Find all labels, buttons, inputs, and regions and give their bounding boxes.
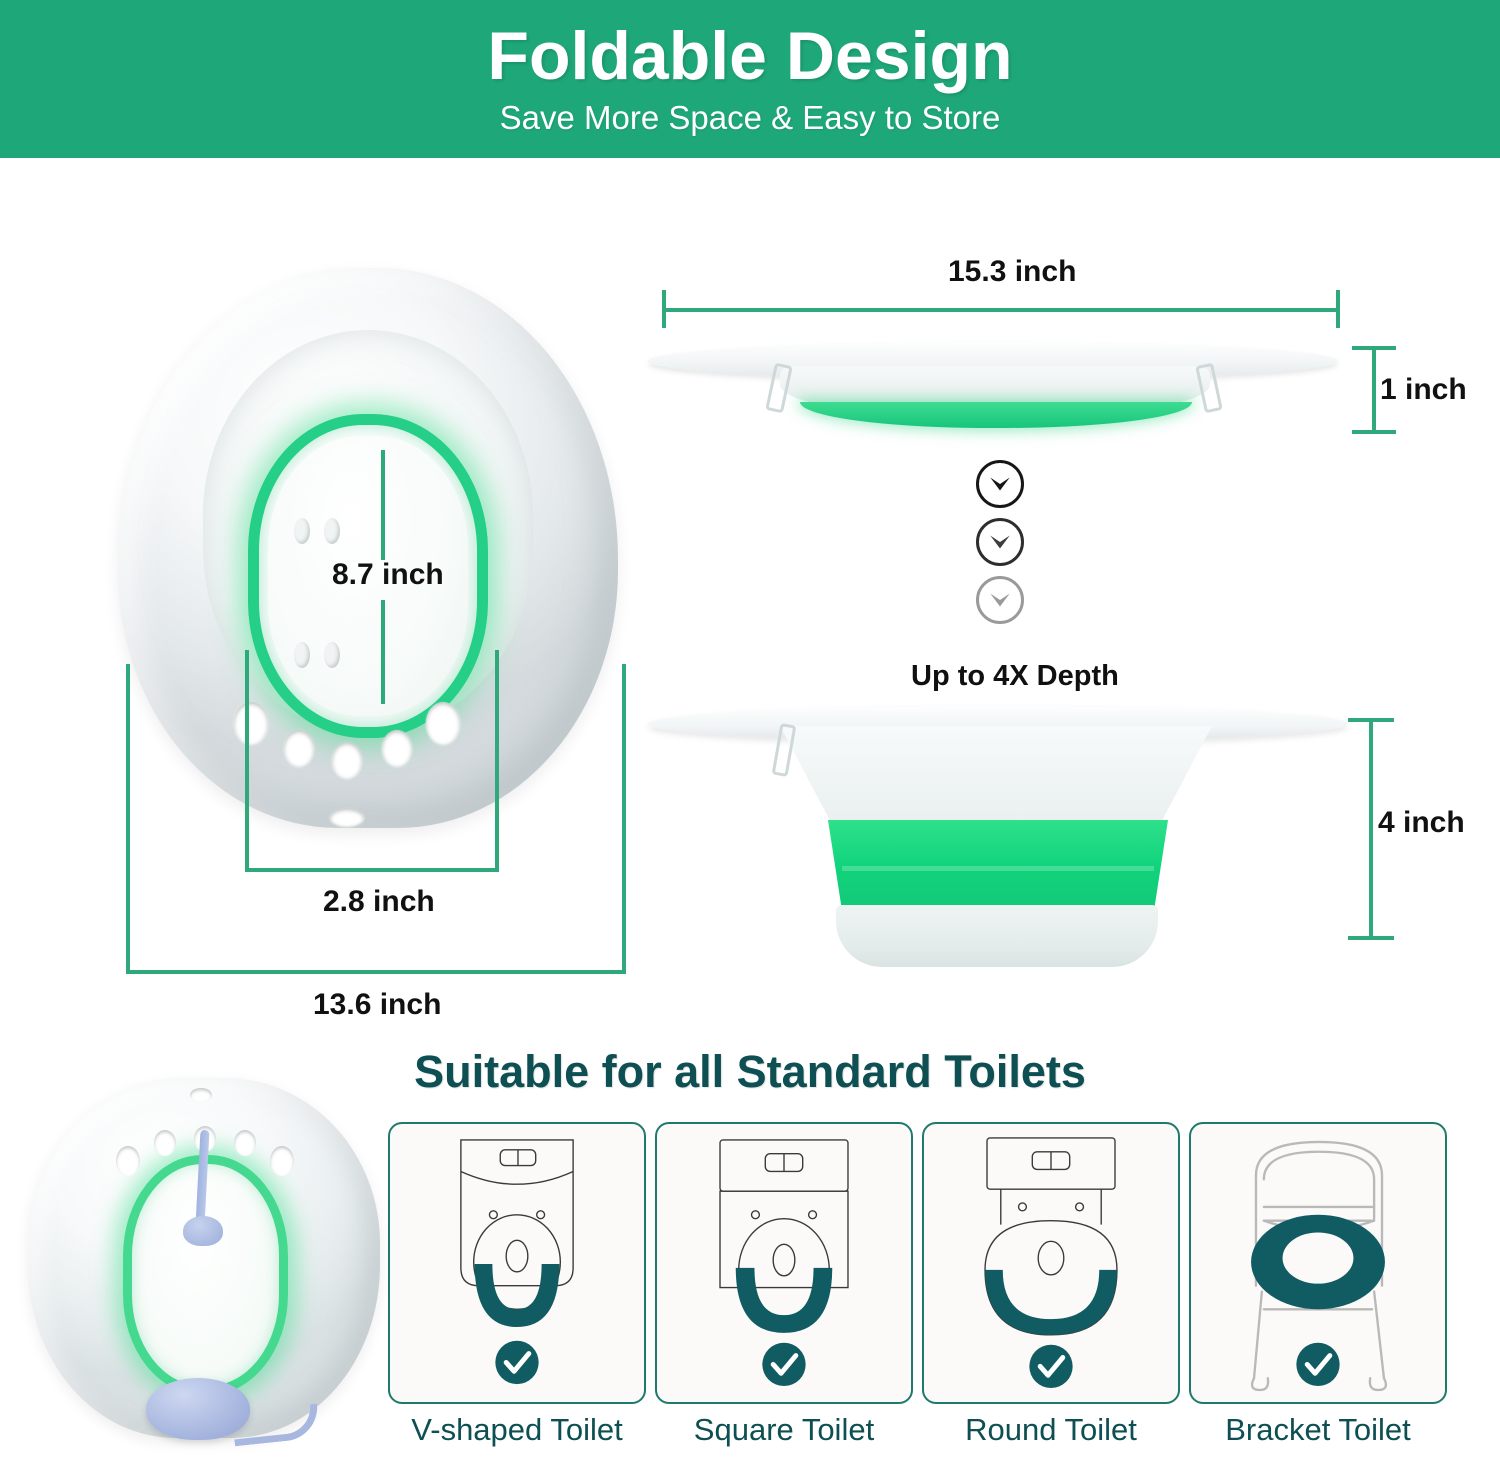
dimension-cap-bottom (1352, 430, 1396, 434)
product-folded-side-view (648, 330, 1338, 440)
toilet-card-round[interactable] (922, 1122, 1180, 1404)
dimension-tick-right (495, 650, 499, 872)
check-icon (762, 1343, 805, 1386)
toilet-card-v-shaped[interactable] (388, 1122, 646, 1404)
dimension-line-inner-height-lower (381, 600, 385, 704)
basin-nub (294, 642, 310, 668)
toilet-card-label-v-shaped: V-shaped Toilet (388, 1412, 646, 1462)
silicone-band-folded (800, 402, 1192, 428)
dimension-line-outer-width (126, 970, 626, 974)
basin-wall-expanded (780, 726, 1212, 824)
product-with-pump-view (28, 1078, 380, 1464)
drain-hole (426, 702, 460, 744)
dimension-tick-left (126, 664, 130, 974)
dimension-label-inner-height: 8.7 inch (332, 558, 444, 592)
page-title: Foldable Design (487, 22, 1012, 90)
product-top-view (118, 268, 618, 828)
toilet-card-label-bracket: Bracket Toilet (1189, 1412, 1447, 1462)
chevron-down-icon (976, 460, 1024, 508)
basin-nub (294, 518, 310, 544)
dimension-label-folded-height: 1 inch (1380, 373, 1467, 407)
check-icon (495, 1341, 538, 1384)
basin-nub (324, 518, 340, 544)
silicone-band-expanded (828, 820, 1168, 908)
dimension-line-inner-width (245, 868, 499, 872)
toilet-card-label-round: Round Toilet (922, 1412, 1180, 1462)
toilet-type-card-list (388, 1122, 1480, 1404)
dimension-label-inner-width: 2.8 inch (323, 885, 435, 919)
depth-callout-label: Up to 4X Depth (911, 660, 1119, 693)
product-expanded-side-view (648, 700, 1348, 950)
dimension-line-folded-height (1372, 346, 1376, 434)
drain-hole (234, 1130, 256, 1156)
drain-hole (154, 1130, 176, 1156)
sitz-bath-overlay (985, 1270, 1117, 1335)
chevron-down-icon (976, 576, 1024, 624)
sitz-bath-overlay (475, 1264, 560, 1327)
dimension-line-folded-width (662, 308, 1340, 312)
dimension-label-expanded-height: 4 inch (1378, 806, 1465, 840)
toilet-card-bracket[interactable] (1189, 1122, 1447, 1404)
dimension-tick-left (245, 650, 249, 872)
drain-hole (332, 742, 362, 778)
drain-hole (234, 702, 268, 744)
hanging-hole (190, 1088, 212, 1102)
toilet-card-label-square: Square Toilet (655, 1412, 913, 1462)
basin-nub (324, 642, 340, 668)
dimension-line-expanded-height (1369, 718, 1373, 940)
dimension-line-inner-height-upper (381, 450, 385, 560)
dimension-tick-right (622, 664, 626, 974)
page-subtitle: Save More Space & Easy to Store (500, 99, 1001, 137)
sitz-bath-overlay (736, 1268, 832, 1333)
toilet-card-label-list: V-shaped Toilet Square Toilet Round Toil… (388, 1412, 1480, 1462)
drain-hole (284, 730, 314, 766)
chevron-down-icon (976, 518, 1024, 566)
drain-hole (270, 1146, 294, 1176)
infographic-page: Foldable Design Save More Space & Easy t… (0, 0, 1500, 1471)
dimension-cap-bottom (1348, 936, 1394, 940)
basin-base-expanded (836, 905, 1158, 967)
toilet-card-square[interactable] (655, 1122, 913, 1404)
check-icon (1296, 1343, 1339, 1386)
drain-hole (382, 730, 412, 766)
check-icon (1029, 1345, 1072, 1388)
drain-hole (116, 1146, 140, 1176)
dimension-label-folded-width: 15.3 inch (948, 255, 1076, 289)
flusher-nozzle (183, 1216, 223, 1246)
dimension-label-outer-width: 13.6 inch (313, 988, 441, 1022)
header-banner: Foldable Design Save More Space & Easy t… (0, 0, 1500, 158)
drain-hole (330, 808, 364, 826)
